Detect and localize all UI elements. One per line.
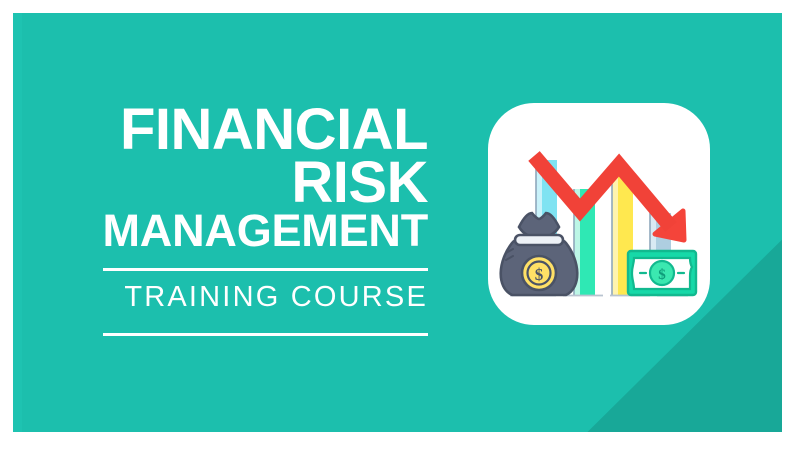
divider-line-bottom: [103, 333, 428, 336]
slide-background: FINANCIAL RISK MANAGEMENT TRAINING COURS…: [13, 13, 782, 432]
background-left-stripe: [13, 13, 22, 432]
subtitle-training-course: TRAINING COURSE: [53, 271, 428, 318]
title-block: FINANCIAL RISK MANAGEMENT TRAINING COURS…: [53, 103, 428, 336]
icon-card: $ $: [488, 103, 710, 325]
bar-3-edge: [611, 171, 613, 295]
headline-line-financial: FINANCIAL: [53, 103, 428, 156]
headline-line-risk: RISK: [53, 156, 428, 209]
money-bag-icon: $: [501, 213, 578, 295]
headline-line-management: MANAGEMENT: [53, 210, 428, 251]
bar-3-highlight: [612, 171, 618, 295]
banknote-dollar-symbol: $: [658, 267, 666, 283]
slide-canvas: FINANCIAL RISK MANAGEMENT TRAINING COURS…: [0, 0, 800, 450]
money-bag-dollar-symbol: $: [535, 265, 544, 284]
money-bag-tie: [515, 235, 563, 245]
declining-financial-chart-icon: $ $: [488, 103, 710, 325]
banknote-icon: $: [628, 251, 696, 295]
